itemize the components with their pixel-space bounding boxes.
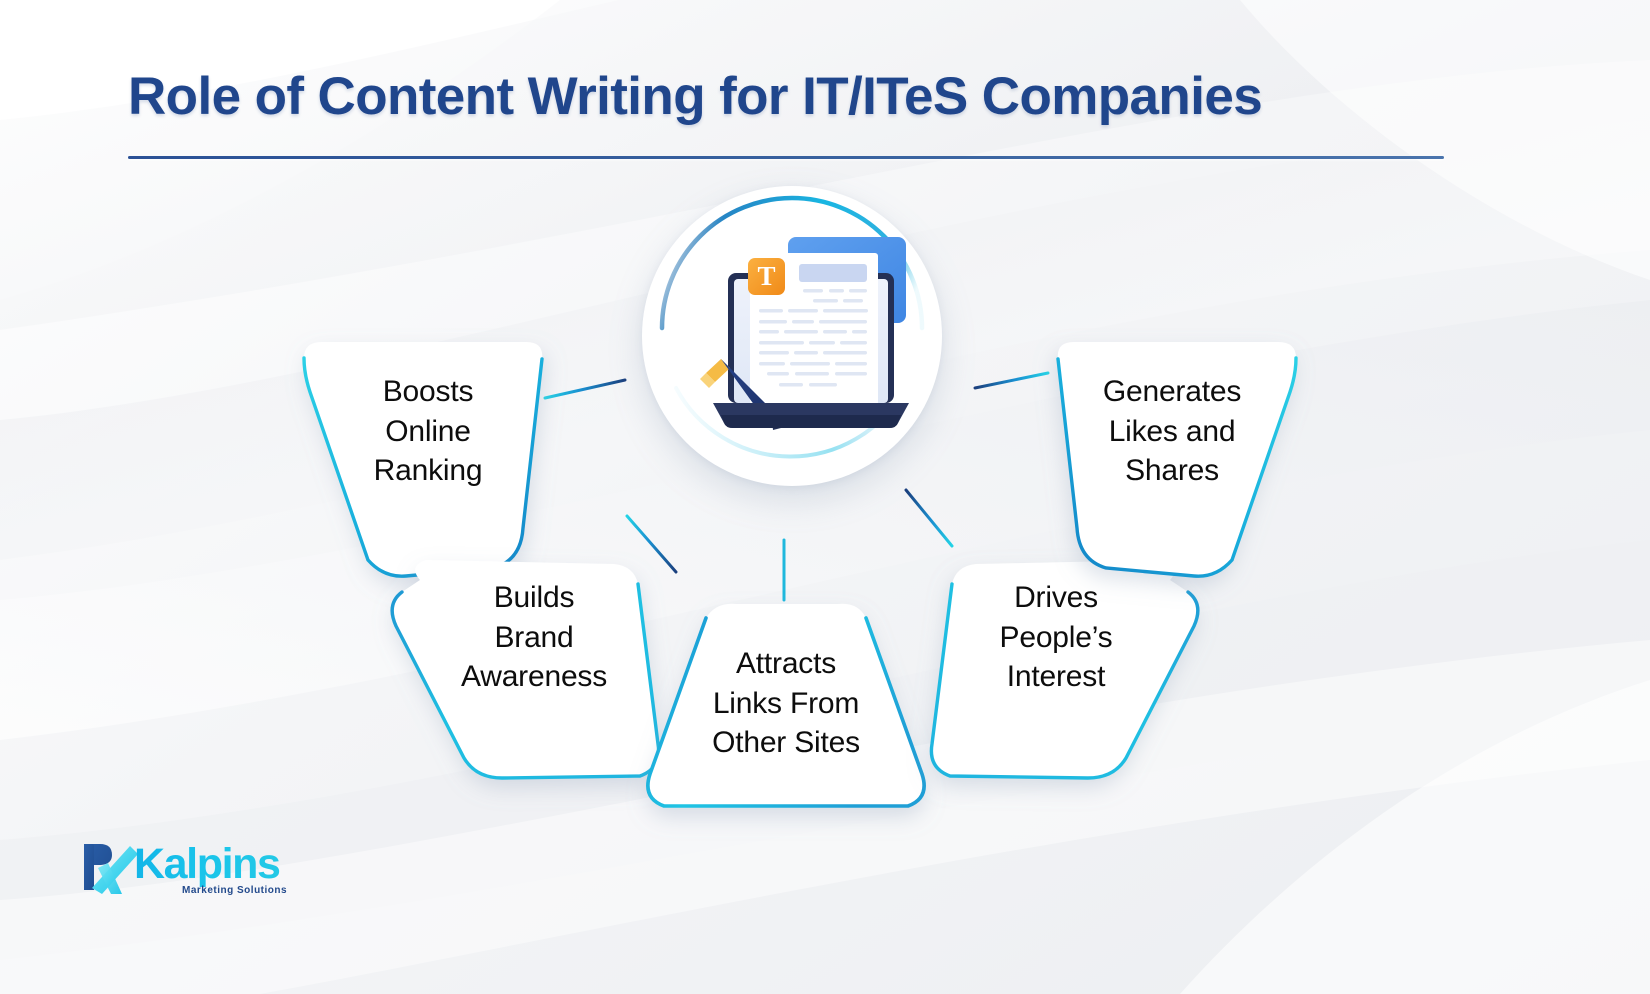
petal-card-attracts-links[interactable]: Attracts Links From Other Sites	[632, 596, 940, 826]
petal-label-attracts-links: Attracts Links From Other Sites	[650, 644, 922, 763]
svg-text:T: T	[757, 261, 775, 291]
title-divider	[128, 156, 1444, 159]
infographic-canvas: Role of Content Writing for IT/ITeS Comp…	[0, 0, 1650, 994]
document-heading-bar	[799, 264, 867, 282]
kalpins-logo-mark-icon	[78, 838, 140, 896]
petal-label-boosts-online-ranking: Boosts Online Ranking	[296, 372, 560, 491]
petal-label-builds-brand-awareness: Builds Brand Awareness	[398, 578, 670, 697]
kalpins-tagline: Marketing Solutions	[182, 885, 287, 896]
petal-label-drives-peoples-interest: Drives People’s Interest	[920, 578, 1192, 697]
petal-card-generates-likes-shares[interactable]: Generates Likes and Shares	[1022, 332, 1322, 592]
content-writing-illustration: T	[655, 225, 930, 450]
kalpins-wordmark: Kalpins	[134, 840, 280, 889]
petal-label-generates-likes-shares: Generates Likes and Shares	[1040, 372, 1304, 491]
kalpins-logo[interactable]: Kalpins Marketing Solutions	[78, 838, 288, 902]
page-title: Role of Content Writing for IT/ITeS Comp…	[128, 66, 1528, 127]
